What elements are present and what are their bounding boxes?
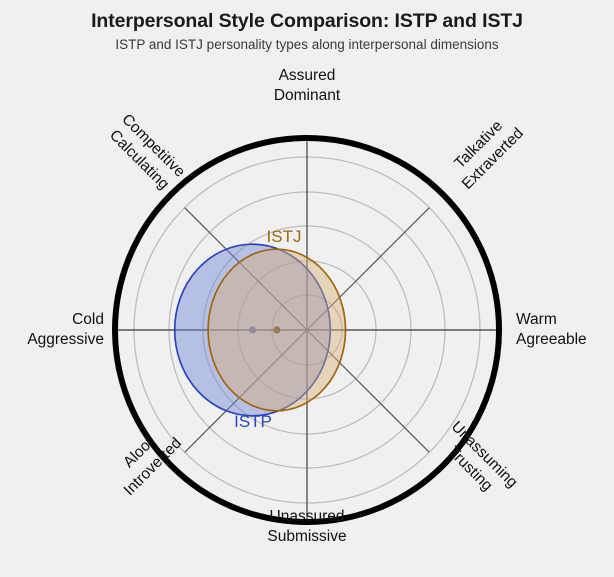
series-label-istj: ISTJ	[267, 227, 302, 247]
axis-label-line2: Agreeable	[516, 330, 587, 350]
series-label-istp: ISTP	[234, 412, 272, 432]
istj-center-dot	[273, 326, 280, 333]
axis-label-line1: Warm	[516, 310, 587, 330]
axis-label-line1: Unassured	[267, 507, 346, 527]
axis-label-warm-agreeable: Warm Agreeable	[516, 310, 587, 350]
axis-label-cold-aggressive: Cold Aggressive	[27, 310, 104, 350]
axis-label-line2: Submissive	[267, 527, 346, 547]
axis-label-assured-dominant: Assured Dominant	[274, 66, 340, 106]
axis-label-line1: Cold	[27, 310, 104, 330]
axis-label-line1: Assured	[274, 66, 340, 86]
axis-label-unassured-submissive: Unassured Submissive	[267, 507, 346, 547]
series-ellipse-istj	[208, 249, 345, 411]
axis-label-line2: Aggressive	[27, 330, 104, 350]
chart-figure: Interpersonal Style Comparison: ISTP and…	[0, 0, 614, 577]
axis-label-line2: Dominant	[274, 86, 340, 106]
